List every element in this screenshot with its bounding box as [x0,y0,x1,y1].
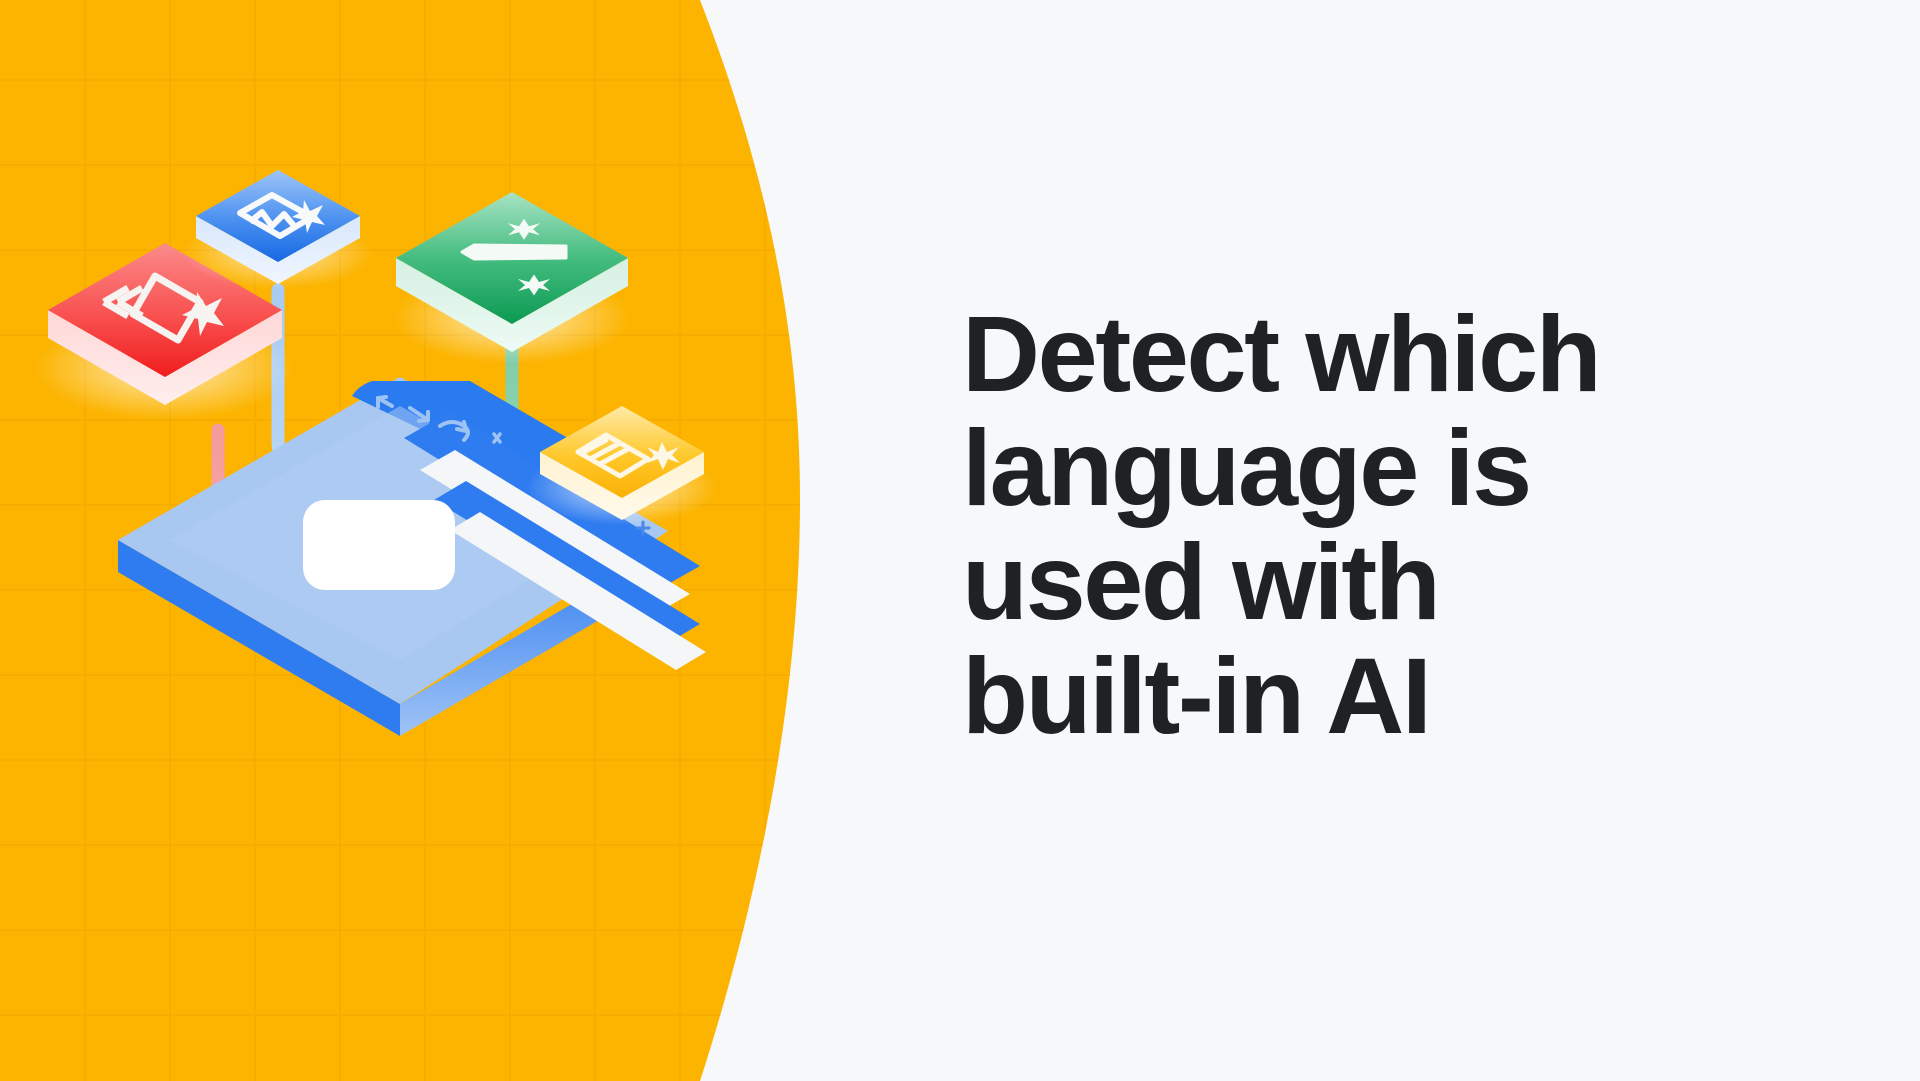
headline-line-2: language is [962,414,1782,522]
headline-line-1: Detect which [962,300,1782,408]
card-image-api[interactable] [183,170,373,289]
sparkle-small-icon [494,434,500,442]
output-result-chip[interactable] [303,500,455,590]
headline-line-4: built-in AI [962,642,1782,750]
isometric-illustration [0,0,1000,1081]
headline-line-3: used with [962,528,1782,636]
pencil-sparkle-icon [462,245,566,259]
card-summarizer-api[interactable] [527,406,717,525]
card-rewriter-api[interactable] [394,192,630,364]
page-title: Detect which language is used with built… [962,300,1782,756]
hero-slide: Detect which language is used with built… [0,0,1920,1081]
